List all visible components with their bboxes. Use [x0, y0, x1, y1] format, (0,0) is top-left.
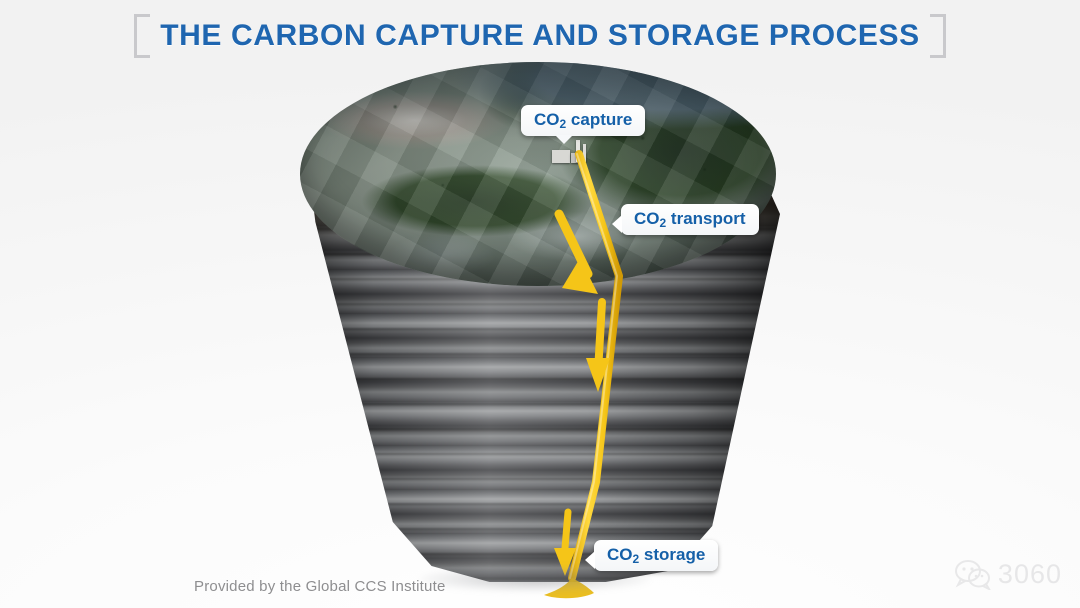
watermark: 3060: [955, 559, 1062, 590]
farm-fields-pattern: [300, 62, 776, 286]
wechat-icon: [955, 560, 991, 590]
label-co2-capture-suffix: capture: [566, 110, 632, 129]
aerial-landscape-top: [300, 62, 776, 286]
surface-vignette: [300, 62, 776, 286]
label-co2-capture-prefix: CO: [534, 110, 560, 129]
forest-canopy-texture: [300, 62, 776, 286]
bracket-right-icon: [930, 14, 946, 58]
label-co2-transport-prefix: CO: [634, 209, 660, 228]
credit-text: Provided by the Global CCS Institute: [194, 578, 446, 595]
label-co2-transport[interactable]: CO2 transport: [621, 204, 759, 235]
watermark-text: 3060: [998, 559, 1062, 590]
label-co2-transport-suffix: transport: [666, 209, 745, 228]
label-co2-storage[interactable]: CO2 storage: [594, 540, 718, 571]
label-co2-transport-sub: 2: [660, 216, 667, 230]
ccs-core-diagram: [296, 62, 780, 584]
page-title-text: THE CARBON CAPTURE AND STORAGE PROCESS: [160, 19, 920, 53]
label-co2-storage-suffix: storage: [639, 545, 705, 564]
label-co2-capture-sub: 2: [560, 117, 567, 131]
bracket-left-icon: [134, 14, 150, 58]
label-co2-storage-sub: 2: [633, 552, 640, 566]
page-title: THE CARBON CAPTURE AND STORAGE PROCESS: [0, 12, 1080, 60]
slide-canvas: THE CARBON CAPTURE AND STORAGE PROCESS: [0, 0, 1080, 608]
label-co2-storage-prefix: CO: [607, 545, 633, 564]
label-co2-capture[interactable]: CO2 capture: [521, 105, 645, 136]
